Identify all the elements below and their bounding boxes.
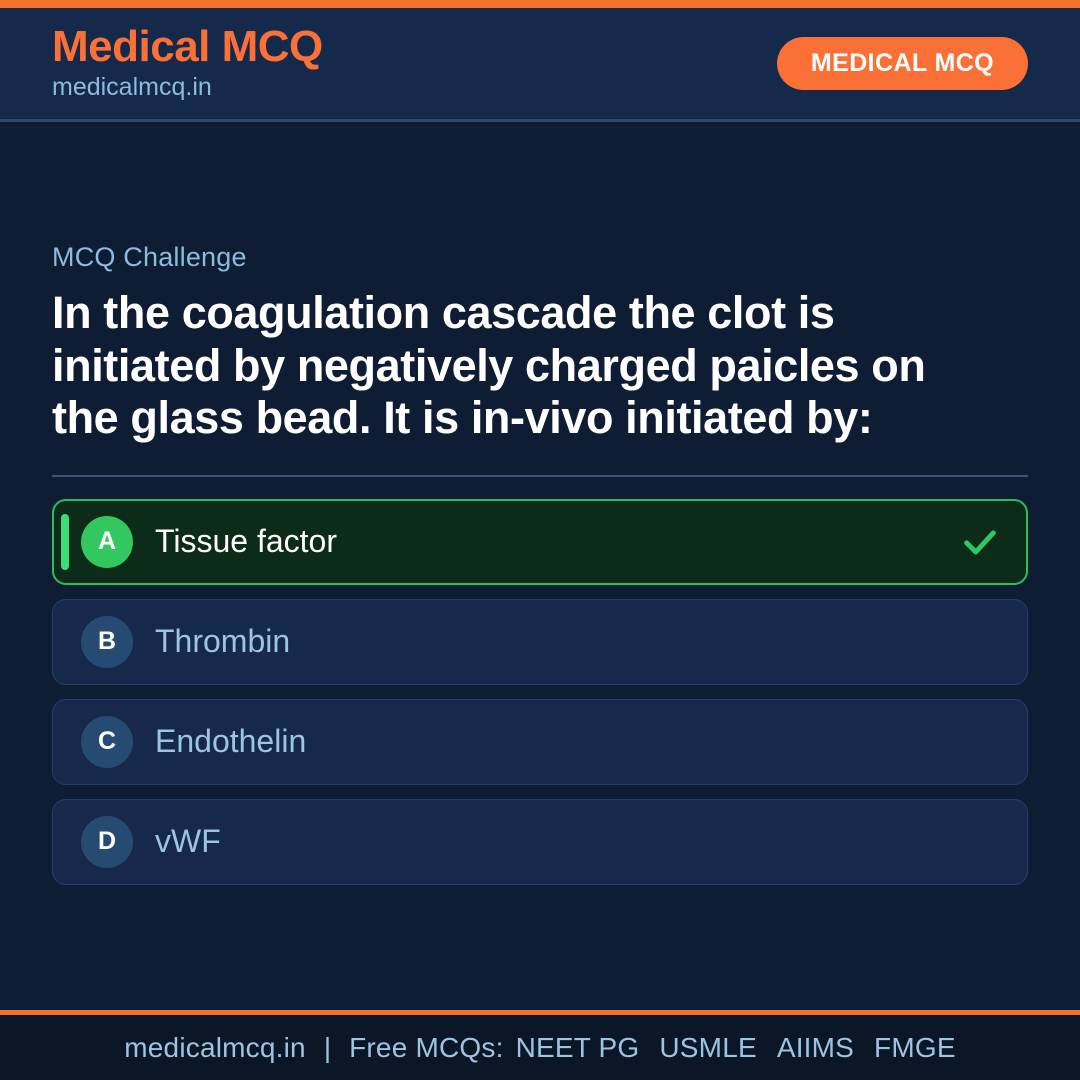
option-letter-badge-c: C: [81, 716, 133, 768]
footer-separator: |: [306, 1032, 349, 1064]
footer-exam-usmle[interactable]: USMLE: [647, 1032, 756, 1063]
top-accent-bar: [0, 0, 1080, 8]
option-text-d: vWF: [155, 824, 1001, 859]
option-row-a[interactable]: A Tissue factor: [52, 499, 1028, 585]
eyebrow-label: MCQ Challenge: [52, 242, 1028, 273]
options-list: A Tissue factor B Thrombin C Endothelin …: [52, 499, 1028, 885]
page-header: Medical MCQ medicalmcq.in MEDICAL MCQ: [0, 8, 1080, 122]
page-footer: medicalmcq.in | Free MCQs: NEET PG USMLE…: [0, 1015, 1080, 1080]
footer-exam-fmge[interactable]: FMGE: [862, 1032, 956, 1063]
option-text-b: Thrombin: [155, 624, 1001, 659]
option-letter-badge-a: A: [81, 516, 133, 568]
divider: [52, 475, 1028, 477]
option-row-b[interactable]: B Thrombin: [52, 599, 1028, 685]
footer-label: Free MCQs:: [349, 1032, 503, 1064]
mcq-card: Medical MCQ medicalmcq.in MEDICAL MCQ MC…: [0, 0, 1080, 1080]
brand-title: Medical MCQ: [52, 24, 323, 71]
footer-site[interactable]: medicalmcq.in: [124, 1032, 306, 1064]
question-area: MCQ Challenge In the coagulation cascade…: [0, 122, 1080, 1010]
option-letter-badge-d: D: [81, 816, 133, 868]
option-row-c[interactable]: C Endothelin: [52, 699, 1028, 785]
option-text-c: Endothelin: [155, 724, 1001, 759]
footer-exam-neet-pg[interactable]: NEET PG: [504, 1032, 640, 1063]
question-text: In the coagulation cascade the clot is i…: [52, 287, 952, 445]
footer-exam-list: NEET PG USMLE AIIMS FMGE: [504, 1032, 956, 1064]
option-row-d[interactable]: D vWF: [52, 799, 1028, 885]
header-badge[interactable]: MEDICAL MCQ: [777, 37, 1028, 90]
footer-exam-aiims[interactable]: AIIMS: [765, 1032, 854, 1063]
brand-block: Medical MCQ medicalmcq.in: [52, 24, 323, 104]
option-letter-badge-b: B: [81, 616, 133, 668]
brand-subtitle: medicalmcq.in: [52, 72, 323, 103]
option-text-a: Tissue factor: [155, 524, 960, 559]
correct-accent-bar: [61, 514, 69, 570]
check-icon: [960, 522, 1000, 562]
